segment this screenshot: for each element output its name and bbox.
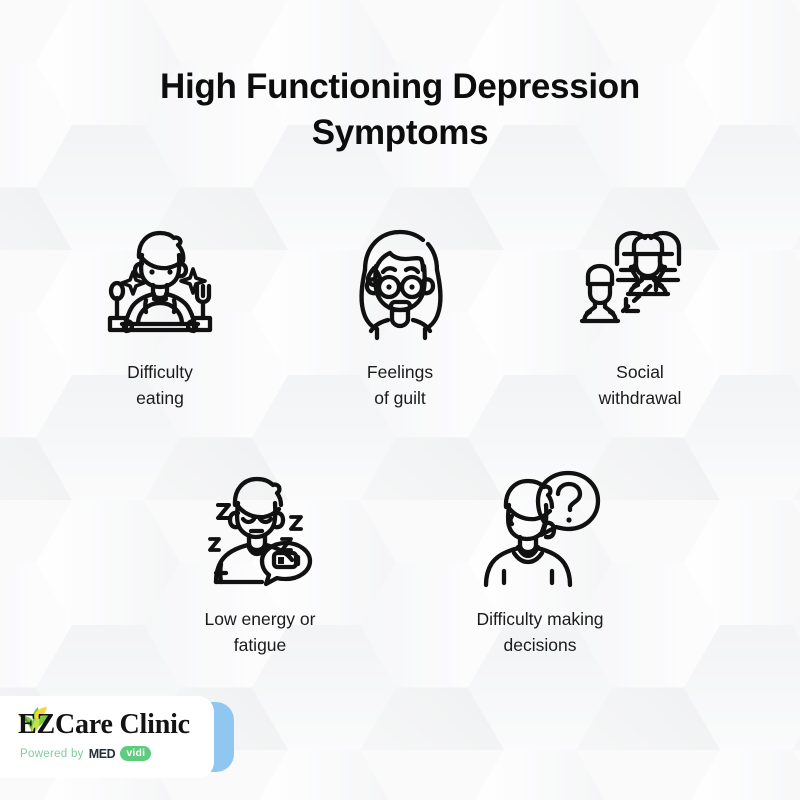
powered-by-row: Powered by MED vidi: [20, 746, 204, 761]
brand-name: EZCare Clinic: [18, 708, 204, 742]
symptom-label: Difficulty making decisions: [476, 606, 603, 658]
symptom-label: Feelings of guilt: [367, 359, 433, 411]
symptom-row-1: Difficulty eating: [0, 208, 800, 411]
symptom-card-social-withdrawal: Social withdrawal: [560, 208, 720, 411]
person-eating-icon: [95, 208, 225, 343]
symptom-card-feelings-of-guilt: Feelings of guilt: [320, 208, 480, 411]
symptom-card-difficulty-decisions: Difficulty making decisions: [440, 455, 640, 658]
partner-badge-vidi: vidi: [120, 746, 151, 761]
logo-white-card: EZCare Clinic Powered by MED vidi: [0, 696, 214, 778]
social-withdrawal-icon: [575, 208, 705, 343]
symptom-label: Difficulty eating: [127, 359, 193, 411]
brand-logo[interactable]: EZCare Clinic Powered by MED vidi: [0, 696, 250, 778]
symptom-row-2: Low energy or fatigue: [0, 455, 800, 658]
symptom-card-low-energy: Low energy or fatigue: [160, 455, 360, 658]
person-question-bubble-icon: [475, 455, 605, 590]
page-title: High Functioning Depression Symptoms: [0, 64, 800, 156]
infographic-canvas: High Functioning Depression Symptoms: [0, 0, 800, 800]
sleepy-person-low-battery-icon: [195, 455, 325, 590]
worried-face-icon: [335, 208, 465, 343]
partner-name-med: MED: [89, 747, 116, 761]
symptom-card-difficulty-eating: Difficulty eating: [80, 208, 240, 411]
symptom-label: Social withdrawal: [599, 359, 682, 411]
powered-by-label: Powered by: [20, 748, 84, 760]
symptom-label: Low energy or fatigue: [205, 606, 316, 658]
